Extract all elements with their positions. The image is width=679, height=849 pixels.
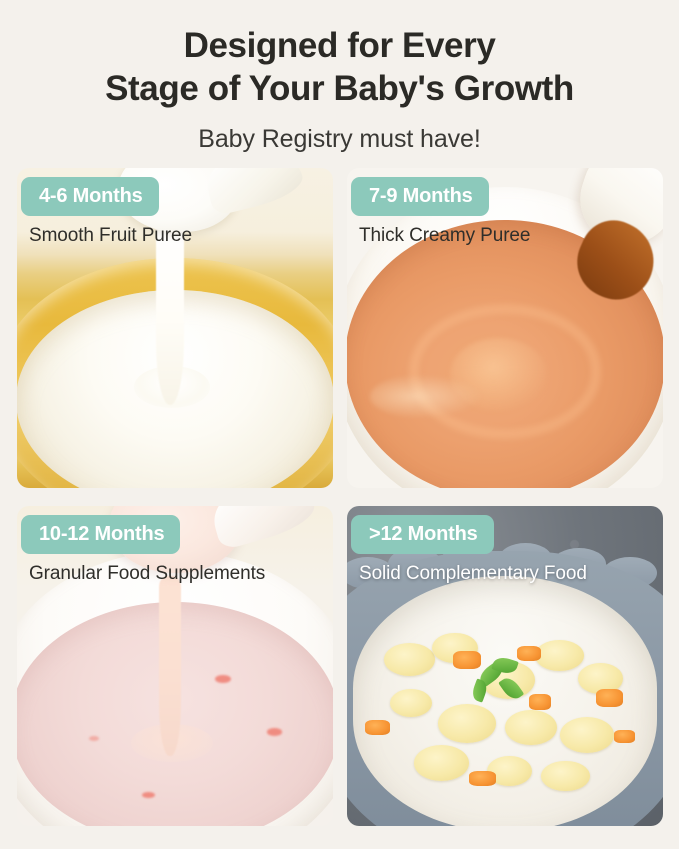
card-caption: Granular Food Supplements [29,562,333,586]
card-overlay: 4-6 Months Smooth Fruit Puree [17,168,333,248]
carrot-piece [517,646,541,661]
age-badge: 4-6 Months [21,177,159,216]
stage-card-4-6-months[interactable]: 4-6 Months Smooth Fruit Puree [17,168,333,488]
puree-gloss [370,374,482,419]
carrot-piece [529,694,550,709]
age-badge: 7-9 Months [351,177,489,216]
age-badge: 10-12 Months [21,515,180,554]
page-subtitle: Baby Registry must have! [0,124,679,154]
food-speck [89,736,99,741]
food-speck [267,728,282,735]
banana-piece [560,717,615,753]
page-title: Designed for Every Stage of Your Baby's … [0,24,679,110]
age-badge: >12 Months [351,515,494,554]
banana-piece [505,710,557,746]
carrot-piece [453,651,480,669]
carrot-piece [614,730,635,743]
puree-drip [159,576,181,755]
banana-piece [384,643,436,676]
card-overlay: 7-9 Months Thick Creamy Puree [347,168,663,248]
card-caption: Solid Complementary Food [359,562,663,586]
food-speck [215,675,231,684]
banana-piece [414,745,469,781]
stage-card-7-9-months[interactable]: 7-9 Months Thick Creamy Puree [347,168,663,488]
stage-card-grid: 4-6 Months Smooth Fruit Puree 7-9 Months [17,168,663,826]
banana-piece [541,761,590,792]
banana-piece [535,640,584,671]
carrot-piece [469,771,496,786]
carrot-piece [365,720,389,735]
promo-page: Designed for Every Stage of Your Baby's … [0,0,679,849]
card-caption: Smooth Fruit Puree [29,224,333,248]
carrot-piece [596,689,623,707]
stage-card-over-12-months[interactable]: >12 Months Solid Complementary Food [347,506,663,826]
card-overlay: 10-12 Months Granular Food Supplements [17,506,333,586]
bowl-contents [353,576,656,826]
banana-piece [438,704,496,742]
food-speck [142,792,155,798]
card-overlay: >12 Months Solid Complementary Food [347,506,663,586]
header: Designed for Every Stage of Your Baby's … [0,0,679,154]
stage-card-10-12-months[interactable]: 10-12 Months Granular Food Supplements [17,506,333,826]
banana-piece [390,689,432,717]
card-caption: Thick Creamy Puree [359,224,663,248]
